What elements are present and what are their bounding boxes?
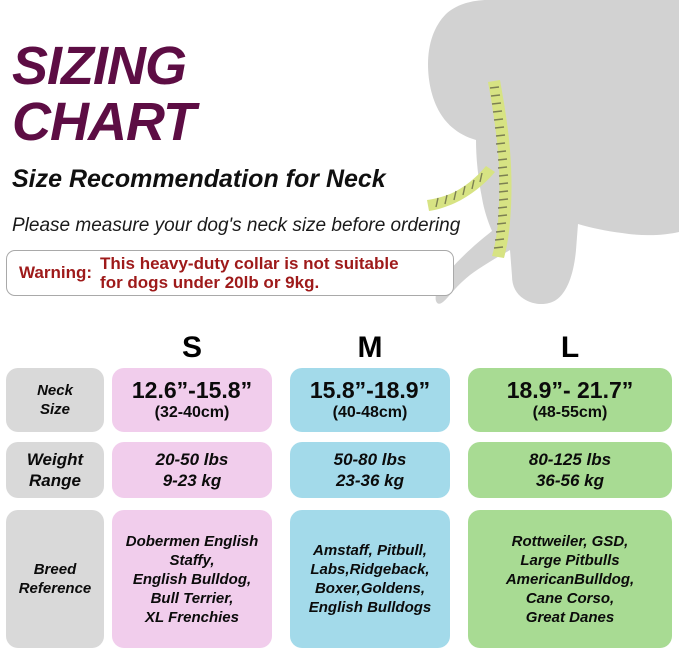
row-label-breed-line2: Reference [19,579,92,598]
weight-range-medium: 50-80 lbs 23-36 kg [290,442,450,498]
weight-range-medium-lbs: 50-80 lbs [334,449,407,470]
breed-small-line-1: Dobermen English [126,532,259,551]
breed-large-line-3: AmericanBulldog, [506,570,634,589]
breed-medium-line-1: Amstaff, Pitbull, [309,541,432,560]
title-line-sizing: SIZING [12,38,386,94]
breed-large-line-5: Great Danes [506,608,634,627]
neck-size-small-inches: 12.6”-15.8” [132,378,252,403]
row-label-weight-line2: Range [27,470,83,491]
dog-body-shape [428,0,679,304]
neck-size-medium-cm: (40-48cm) [310,403,430,422]
warning-text: This heavy-duty collar is not suitable f… [100,254,399,292]
size-header-l: L [468,332,672,364]
breed-medium-line-3: Boxer,Goldens, [309,579,432,598]
row-label-weight-line1: Weight [27,449,83,470]
warning-label: Warning: [13,263,100,283]
breed-small-line-4: Bull Terrier, [126,589,259,608]
weight-range-small-lbs: 20-50 lbs [156,449,229,470]
breed-small-line-5: XL Frenchies [126,608,259,627]
weight-range-small: 20-50 lbs 9-23 kg [112,442,272,498]
warning-text-line1: This heavy-duty collar is not suitable [100,254,399,273]
sizing-table: Neck Size 12.6”-15.8” (32-40cm) 15.8”-18… [0,368,679,656]
breed-reference-small: Dobermen English Staffy, English Bulldog… [112,510,272,648]
warning-banner: Warning: This heavy-duty collar is not s… [6,250,454,296]
weight-range-medium-kg: 23-36 kg [334,470,407,491]
breed-reference-medium: Amstaff, Pitbull, Labs,Ridgeback, Boxer,… [290,510,450,648]
row-label-neck-line1: Neck [37,381,73,400]
neck-size-medium: 15.8”-18.9” (40-48cm) [290,368,450,432]
row-label-breed-reference: Breed Reference [6,510,104,648]
row-label-neck-line2: Size [37,400,73,419]
breed-reference-large: Rottweiler, GSD, Large Pitbulls American… [468,510,672,648]
breed-large-line-1: Rottweiler, GSD, [506,532,634,551]
title-line-chart: CHART [12,94,386,150]
neck-size-large-cm: (48-55cm) [507,403,634,422]
breed-large-line-4: Cane Corso, [506,589,634,608]
row-label-weight-range: Weight Range [6,442,104,498]
breed-small-line-3: English Bulldog, [126,570,259,589]
row-label-neck-size: Neck Size [6,368,104,432]
weight-range-small-kg: 9-23 kg [156,470,229,491]
breed-small-line-2: Staffy, [126,551,259,570]
size-header-m: M [290,332,450,364]
warning-text-line2: for dogs under 20lb or 9kg. [100,273,319,292]
weight-range-large: 80-125 lbs 36-56 kg [468,442,672,498]
row-label-breed-line1: Breed [19,560,92,579]
size-header-s: S [112,332,272,364]
neck-size-small-cm: (32-40cm) [132,403,252,422]
weight-range-large-lbs: 80-125 lbs [529,449,611,470]
table-row-weight-range: Weight Range 20-50 lbs 9-23 kg 50-80 lbs… [0,442,679,498]
measure-instruction: Please measure your dog's neck size befo… [12,215,460,237]
page-title: SIZING CHART Size Recommendation for Nec… [12,38,386,194]
neck-size-large: 18.9”- 21.7” (48-55cm) [468,368,672,432]
neck-size-large-inches: 18.9”- 21.7” [507,378,634,403]
breed-medium-line-2: Labs,Ridgeback, [309,560,432,579]
breed-large-line-2: Large Pitbulls [506,551,634,570]
size-header-row: S M L [0,332,679,364]
breed-medium-line-4: English Bulldogs [309,598,432,617]
table-row-breed-reference: Breed Reference Dobermen English Staffy,… [0,510,679,648]
neck-size-small: 12.6”-15.8” (32-40cm) [112,368,272,432]
neck-size-medium-inches: 15.8”-18.9” [310,378,430,403]
table-row-neck-size: Neck Size 12.6”-15.8” (32-40cm) 15.8”-18… [0,368,679,432]
weight-range-large-kg: 36-56 kg [529,470,611,491]
page-subtitle: Size Recommendation for Neck [12,164,386,194]
